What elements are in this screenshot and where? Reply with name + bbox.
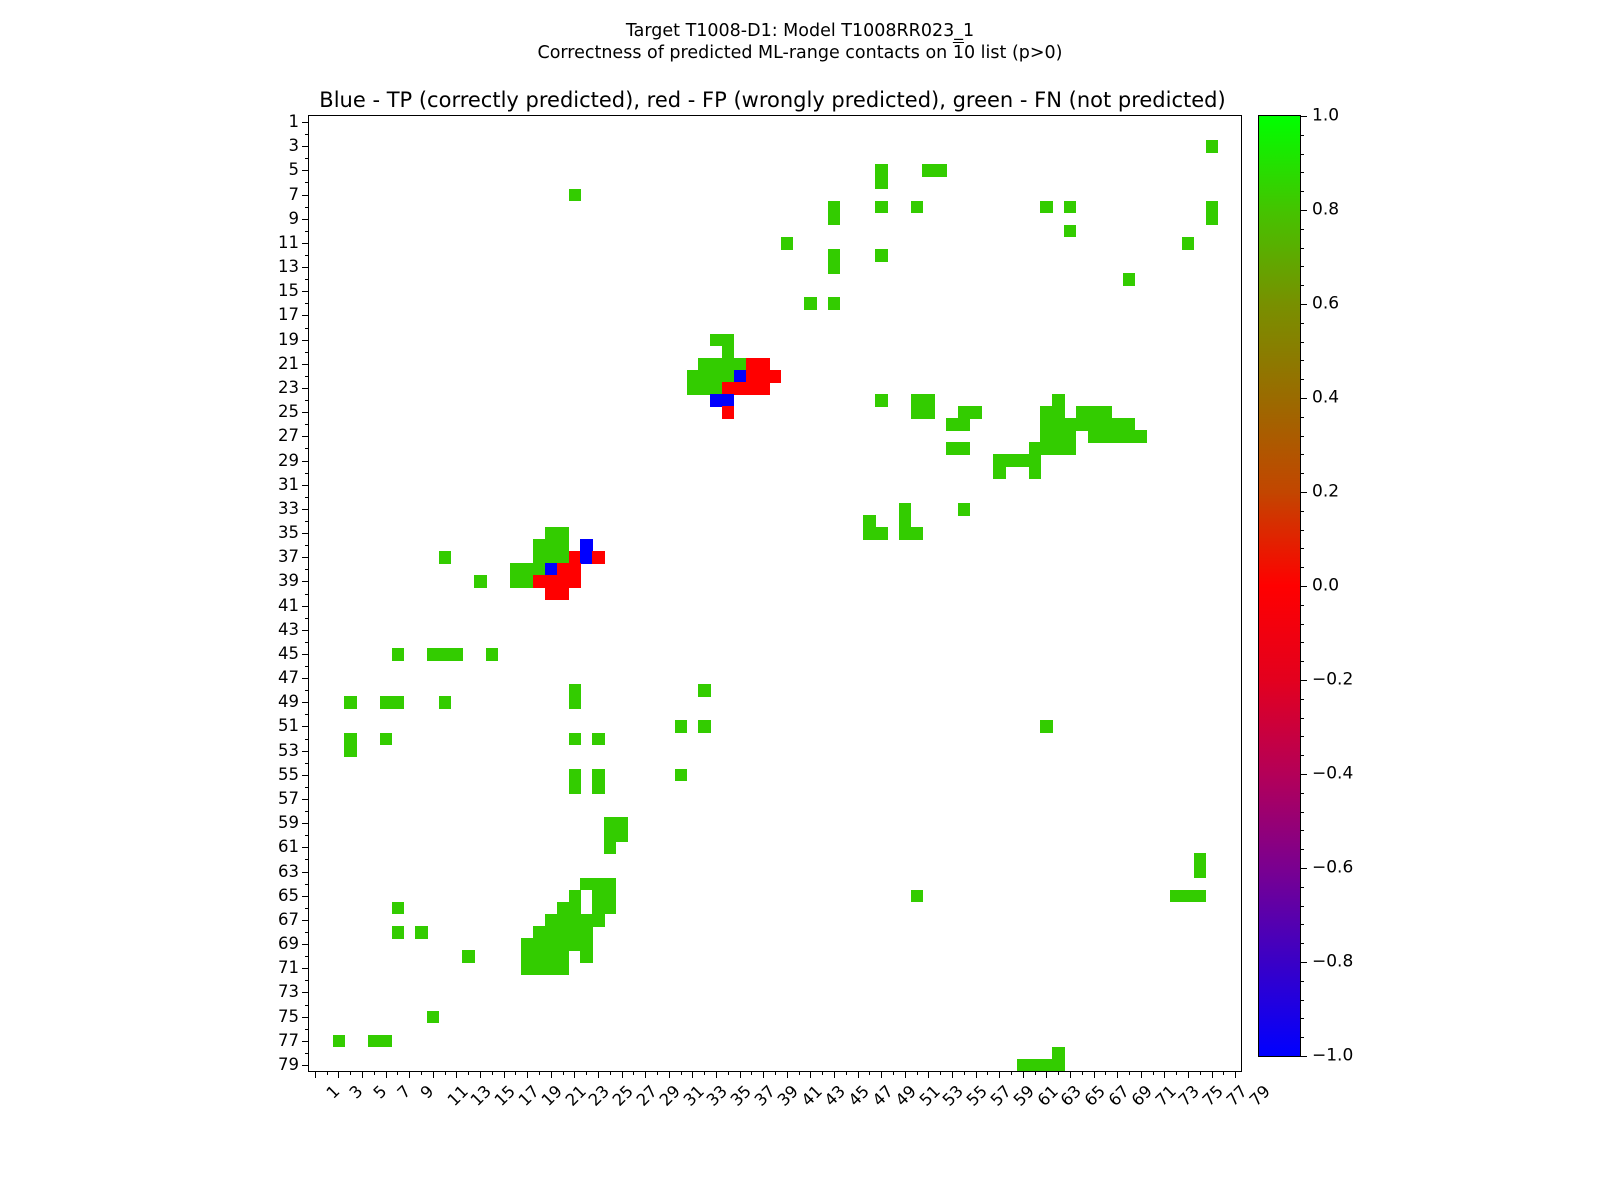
contact-cell <box>533 563 545 576</box>
contact-cell <box>569 575 581 588</box>
contact-cell <box>592 890 604 903</box>
x-tick-major <box>338 1071 339 1078</box>
y-tick-major <box>302 775 309 776</box>
x-tick-major <box>1188 1071 1189 1078</box>
colorbar-tick <box>1300 868 1307 869</box>
y-tick-minor <box>305 835 309 836</box>
y-tick-minor <box>305 594 309 595</box>
figure-title: Target T1008-D1: Model T1008RR023_1 Corr… <box>0 20 1600 64</box>
y-tick-label: 23 <box>278 380 299 397</box>
colorbar-tick <box>1300 116 1307 117</box>
x-tick-major <box>622 1071 623 1078</box>
contact-cell <box>875 527 887 540</box>
contact-cell <box>569 914 581 927</box>
contact-cell <box>828 249 840 262</box>
contact-cell <box>1052 1047 1064 1060</box>
contact-cell <box>828 201 840 214</box>
x-tick-major <box>1117 1071 1118 1078</box>
contact-cell <box>392 696 404 709</box>
contact-cell <box>533 575 545 588</box>
y-tick-label: 7 <box>289 186 300 203</box>
contact-cell <box>734 370 746 383</box>
contact-cell <box>592 914 604 927</box>
contact-cell <box>545 950 557 963</box>
x-tick-major <box>716 1071 717 1078</box>
y-tick-label: 47 <box>278 670 299 687</box>
contact-cell <box>557 926 569 939</box>
contact-cell <box>899 515 911 528</box>
y-tick-major <box>302 195 309 196</box>
x-tick-minor <box>610 1071 611 1075</box>
y-tick-major <box>302 630 309 631</box>
y-tick-minor <box>305 690 309 691</box>
contact-cell <box>911 406 923 419</box>
contact-cell <box>698 382 710 395</box>
y-tick-major <box>302 968 309 969</box>
contact-cell <box>569 684 581 697</box>
x-tick-major <box>456 1071 457 1078</box>
y-tick-major <box>302 315 309 316</box>
contact-cell <box>1040 418 1052 431</box>
contact-cell <box>439 648 451 661</box>
contact-cell <box>533 950 545 963</box>
y-tick-major <box>302 170 309 171</box>
contact-cell <box>569 189 581 202</box>
contact-cell <box>1017 1059 1029 1071</box>
y-tick-label: 19 <box>278 331 299 348</box>
y-tick-label: 53 <box>278 742 299 759</box>
colorbar-minor-tick <box>1300 830 1304 831</box>
colorbar-minor-tick <box>1300 624 1304 625</box>
contact-cell <box>580 878 592 891</box>
y-tick-major <box>302 436 309 437</box>
x-tick-minor <box>563 1071 564 1075</box>
x-tick-major <box>928 1071 929 1078</box>
x-tick-minor <box>327 1071 328 1075</box>
colorbar-minor-tick <box>1300 172 1304 173</box>
x-tick-major <box>810 1071 811 1078</box>
y-tick-major <box>302 267 309 268</box>
colorbar-minor-tick <box>1300 906 1304 907</box>
contact-cell <box>604 841 616 854</box>
contact-cell <box>1052 1059 1064 1071</box>
contact-cell <box>427 1011 439 1024</box>
x-tick-major <box>858 1071 859 1078</box>
contact-cell <box>1135 430 1147 443</box>
contact-cell <box>510 575 522 588</box>
contact-cell <box>604 817 616 830</box>
colorbar-tick <box>1300 210 1307 211</box>
colorbar-minor-tick <box>1300 718 1304 719</box>
y-tick-minor <box>305 448 309 449</box>
y-tick-major <box>302 461 309 462</box>
y-tick-minor <box>305 618 309 619</box>
x-tick-major <box>881 1071 882 1078</box>
colorbar-tick-label: −0.8 <box>1312 954 1353 971</box>
contact-cell <box>1123 273 1135 286</box>
contact-cell <box>1040 201 1052 214</box>
y-tick-minor <box>305 400 309 401</box>
y-tick-minor <box>305 545 309 546</box>
colorbar-minor-tick <box>1300 1000 1304 1001</box>
y-tick-major <box>302 1017 309 1018</box>
x-tick-label: 5 <box>371 1083 390 1102</box>
contact-cell <box>746 382 758 395</box>
colorbar-minor-tick <box>1300 229 1304 230</box>
y-tick-label: 37 <box>278 549 299 566</box>
contact-cell <box>1088 430 1100 443</box>
x-tick-minor <box>869 1071 870 1075</box>
contact-cell <box>521 575 533 588</box>
x-tick-major <box>504 1071 505 1078</box>
contact-cell <box>533 962 545 975</box>
y-tick-minor <box>305 569 309 570</box>
contact-cell <box>557 902 569 915</box>
contact-cell <box>710 358 722 371</box>
contact-cells-layer <box>309 116 1241 1071</box>
contact-cell <box>875 164 887 177</box>
colorbar-minor-tick <box>1300 887 1304 888</box>
colorbar-minor-tick <box>1300 680 1304 681</box>
y-tick-major <box>302 872 309 873</box>
x-tick-major <box>362 1071 363 1078</box>
x-tick-major <box>598 1071 599 1078</box>
contact-cell <box>380 696 392 709</box>
contact-cell <box>580 938 592 951</box>
contact-cell <box>757 370 769 383</box>
contact-cell <box>698 358 710 371</box>
contact-cell <box>604 878 616 891</box>
contact-cell <box>1194 853 1206 866</box>
contact-cell <box>427 648 439 661</box>
contact-cell <box>958 503 970 516</box>
y-tick-major <box>302 557 309 558</box>
contact-cell <box>710 334 722 347</box>
x-tick-major <box>740 1071 741 1078</box>
colorbar-minor-tick <box>1300 530 1304 531</box>
y-tick-minor <box>305 884 309 885</box>
contact-cell <box>710 394 722 407</box>
y-tick-label: 21 <box>278 356 299 373</box>
contact-cell <box>557 539 569 552</box>
colorbar-minor-tick <box>1300 473 1304 474</box>
x-tick-label: 3 <box>348 1083 367 1102</box>
contact-cell <box>781 237 793 250</box>
y-tick-major <box>302 944 309 945</box>
colorbar-tick-label: −0.6 <box>1312 860 1353 877</box>
colorbar-minor-tick <box>1300 943 1304 944</box>
y-tick-minor <box>305 231 309 232</box>
title-line-2-pre: Correctness of predicted ML-range contac… <box>537 43 952 63</box>
y-tick-major <box>302 219 309 220</box>
contact-cell <box>569 696 581 709</box>
contact-cell <box>592 878 604 891</box>
colorbar-minor-tick <box>1300 191 1304 192</box>
contact-cell <box>439 696 451 709</box>
x-tick-minor <box>492 1071 493 1075</box>
contact-cell <box>970 406 982 419</box>
contact-cell <box>569 781 581 794</box>
x-tick-minor <box>728 1071 729 1075</box>
x-tick-major <box>1046 1071 1047 1078</box>
y-tick-major <box>302 992 309 993</box>
y-tick-major <box>302 509 309 510</box>
contact-cell <box>545 539 557 552</box>
y-tick-label: 31 <box>278 476 299 493</box>
contact-cell <box>533 551 545 564</box>
contact-cell <box>557 551 569 564</box>
contact-cell <box>993 467 1005 480</box>
contact-cell <box>1194 890 1206 903</box>
contact-cell <box>958 418 970 431</box>
x-tick-major <box>999 1071 1000 1078</box>
contact-cell <box>545 587 557 600</box>
colorbar-tick <box>1300 1056 1307 1057</box>
contact-cell <box>1206 201 1218 214</box>
contact-cell <box>1206 213 1218 226</box>
contact-cell <box>616 829 628 842</box>
y-tick-label: 33 <box>278 501 299 518</box>
contact-cell <box>344 745 356 758</box>
contact-cell <box>746 358 758 371</box>
contact-cell <box>545 938 557 951</box>
contact-cell <box>958 442 970 455</box>
title-overline-digit: 1 <box>953 43 964 63</box>
y-tick-label: 49 <box>278 694 299 711</box>
x-tick-minor <box>775 1071 776 1075</box>
contact-cell <box>533 938 545 951</box>
y-tick-major <box>302 533 309 534</box>
colorbar-minor-tick <box>1300 342 1304 343</box>
y-tick-minor <box>305 1053 309 1054</box>
x-tick-minor <box>586 1071 587 1075</box>
colorbar[interactable]: 1.00.80.60.40.20.0−0.2−0.4−0.6−0.8−1.0 <box>1258 115 1301 1057</box>
y-tick-label: 67 <box>278 912 299 929</box>
contact-cell <box>1040 430 1052 443</box>
contact-cell <box>769 370 781 383</box>
y-tick-label: 77 <box>278 1033 299 1050</box>
y-tick-major <box>302 581 309 582</box>
colorbar-minor-tick <box>1300 360 1304 361</box>
contact-cell <box>875 394 887 407</box>
colorbar-tick <box>1300 398 1307 399</box>
contact-cell <box>875 201 887 214</box>
y-tick-minor <box>305 908 309 909</box>
y-tick-major <box>302 678 309 679</box>
contact-cell <box>580 926 592 939</box>
colorbar-minor-tick <box>1300 567 1304 568</box>
colorbar-minor-tick <box>1300 154 1304 155</box>
contact-cell <box>604 890 616 903</box>
y-tick-label: 29 <box>278 452 299 469</box>
x-tick-major <box>386 1071 387 1078</box>
x-tick-major <box>952 1071 953 1078</box>
contact-cell <box>899 503 911 516</box>
contact-cell <box>1064 201 1076 214</box>
y-tick-major <box>302 340 309 341</box>
contact-cell <box>1040 1059 1052 1071</box>
x-tick-minor <box>1082 1071 1083 1075</box>
contact-cell <box>1052 418 1064 431</box>
x-tick-minor <box>1176 1071 1177 1075</box>
x-tick-major <box>1070 1071 1071 1078</box>
y-tick-label: 69 <box>278 936 299 953</box>
contact-cell <box>1182 237 1194 250</box>
x-tick-minor <box>1129 1071 1130 1075</box>
colorbar-minor-tick <box>1300 661 1304 662</box>
x-tick-minor <box>397 1071 398 1075</box>
contact-cell <box>1099 418 1111 431</box>
colorbar-minor-tick <box>1300 793 1304 794</box>
y-tick-minor <box>305 182 309 183</box>
x-tick-minor <box>1200 1071 1201 1075</box>
contact-cell <box>1064 418 1076 431</box>
colorbar-minor-tick <box>1300 379 1304 380</box>
contact-cell <box>1111 418 1123 431</box>
contact-cell <box>698 370 710 383</box>
contact-cell <box>580 551 592 564</box>
contact-cell <box>451 648 463 661</box>
contact-map-plot[interactable]: 1357911131517192123252729313335373941434… <box>308 115 1242 1072</box>
contact-cell <box>1029 467 1041 480</box>
contact-cell <box>1099 406 1111 419</box>
contact-cell <box>828 213 840 226</box>
contact-cell <box>1052 406 1064 419</box>
contact-cell <box>1076 418 1088 431</box>
x-tick-major <box>763 1071 764 1078</box>
colorbar-minor-tick <box>1300 323 1304 324</box>
y-tick-label: 39 <box>278 573 299 590</box>
contact-cell <box>828 297 840 310</box>
y-tick-major <box>302 920 309 921</box>
colorbar-minor-tick <box>1300 266 1304 267</box>
contact-cell <box>958 406 970 419</box>
colorbar-minor-tick <box>1300 511 1304 512</box>
x-tick-minor <box>964 1071 965 1075</box>
y-tick-major <box>302 1065 309 1066</box>
contact-cell <box>1170 890 1182 903</box>
contact-cell <box>675 720 687 733</box>
contact-cell <box>757 358 769 371</box>
colorbar-minor-tick <box>1300 981 1304 982</box>
contact-cell <box>439 551 451 564</box>
contact-cell <box>1029 1059 1041 1071</box>
x-tick-minor <box>1223 1071 1224 1075</box>
y-tick-minor <box>305 787 309 788</box>
colorbar-minor-tick <box>1300 924 1304 925</box>
colorbar-minor-tick <box>1300 605 1304 606</box>
y-tick-label: 25 <box>278 404 299 421</box>
colorbar-minor-tick <box>1300 812 1304 813</box>
contact-cell <box>533 539 545 552</box>
y-tick-minor <box>305 303 309 304</box>
y-tick-label: 73 <box>278 984 299 1001</box>
colorbar-tick <box>1300 962 1307 963</box>
y-tick-major <box>302 896 309 897</box>
contact-cell <box>569 890 581 903</box>
contact-cell <box>1064 225 1076 238</box>
contact-cell <box>569 938 581 951</box>
contact-cell <box>604 902 616 915</box>
x-tick-label: 1 <box>324 1083 343 1102</box>
contact-cell <box>545 926 557 939</box>
x-tick-minor <box>681 1071 682 1075</box>
contact-cell <box>569 926 581 939</box>
y-tick-major <box>302 243 309 244</box>
contact-cell <box>1040 720 1052 733</box>
x-tick-label: 9 <box>418 1083 437 1102</box>
colorbar-minor-tick <box>1300 642 1304 643</box>
x-tick-major <box>976 1071 977 1078</box>
contact-cell <box>911 890 923 903</box>
colorbar-minor-tick <box>1300 736 1304 737</box>
contact-cell <box>922 164 934 177</box>
contact-cell <box>722 382 734 395</box>
contact-cell <box>746 370 758 383</box>
colorbar-minor-tick <box>1300 417 1304 418</box>
colorbar-tick-label: −1.0 <box>1312 1048 1353 1065</box>
contact-cell <box>392 648 404 661</box>
contact-cell <box>1088 418 1100 431</box>
y-tick-label: 43 <box>278 622 299 639</box>
x-tick-minor <box>1035 1071 1036 1075</box>
x-tick-major <box>1023 1071 1024 1078</box>
contact-cell <box>934 164 946 177</box>
colorbar-minor-tick <box>1300 849 1304 850</box>
y-tick-major <box>302 412 309 413</box>
contact-cell <box>569 733 581 746</box>
contact-cell <box>922 394 934 407</box>
x-tick-major <box>527 1071 528 1078</box>
contact-cell <box>722 358 734 371</box>
contact-cell <box>828 261 840 274</box>
x-tick-minor <box>822 1071 823 1075</box>
contact-cell <box>344 733 356 746</box>
contact-cell <box>557 914 569 927</box>
y-tick-major <box>302 146 309 147</box>
x-tick-major <box>787 1071 788 1078</box>
contact-cell <box>698 720 710 733</box>
contact-cell <box>333 1035 345 1048</box>
y-tick-minor <box>305 328 309 329</box>
x-tick-major <box>1212 1071 1213 1078</box>
contact-cell <box>368 1035 380 1048</box>
x-tick-minor <box>539 1071 540 1075</box>
y-tick-major <box>302 823 309 824</box>
y-tick-minor <box>305 980 309 981</box>
contact-cell <box>1111 430 1123 443</box>
y-tick-minor <box>305 521 309 522</box>
colorbar-minor-tick <box>1300 699 1304 700</box>
contact-cell <box>1017 454 1029 467</box>
contact-cell <box>510 563 522 576</box>
x-tick-minor <box>445 1071 446 1075</box>
contact-cell <box>592 769 604 782</box>
contact-cell <box>604 829 616 842</box>
contact-cell <box>592 902 604 915</box>
title-line-1: Target T1008-D1: Model T1008RR023_1 <box>0 20 1600 42</box>
y-tick-minor <box>305 207 309 208</box>
contact-cell <box>875 249 887 262</box>
x-tick-minor <box>799 1071 800 1075</box>
x-tick-major <box>1235 1071 1236 1078</box>
colorbar-tick-label: 0.2 <box>1312 484 1339 501</box>
y-tick-major <box>302 1041 309 1042</box>
contact-cell <box>380 733 392 746</box>
contact-cell <box>569 551 581 564</box>
contact-cell <box>545 962 557 975</box>
y-tick-label: 13 <box>278 259 299 276</box>
